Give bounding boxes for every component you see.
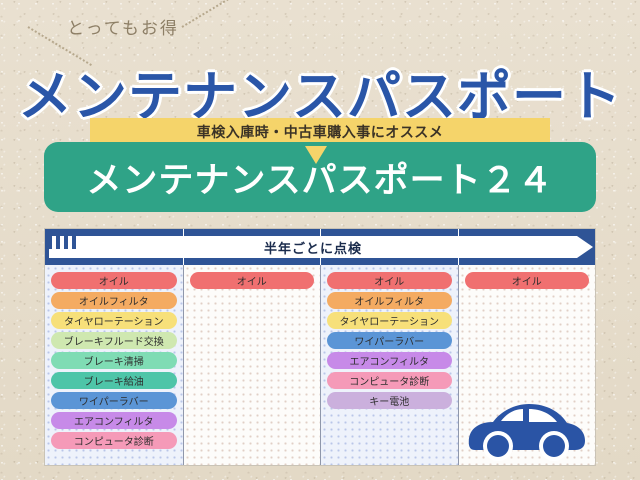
kicker-text: とってもお得: [58, 14, 188, 39]
service-pill: オイルフィルタ: [51, 292, 177, 309]
service-pill: コンピュータ診断: [51, 432, 177, 449]
service-pill: オイル: [51, 272, 177, 289]
maintenance-schedule-panel: 半年ごとに点検 オイルオイルフィルタタイヤローテーションブレーキフルード交換ブレ…: [44, 228, 596, 466]
service-pill: オイルフィルタ: [327, 292, 452, 309]
recommendation-banner-tail-icon: [305, 146, 327, 164]
service-column-3: オイルオイルフィルタタイヤローテーションワイパーラバーエアコンフィルタコンピュー…: [321, 265, 459, 466]
timeline-arrow-head-icon: [577, 236, 593, 258]
kicker-dash-right-icon: [181, 0, 245, 28]
service-column-1: オイルオイルフィルタタイヤローテーションブレーキフルード交換ブレーキ清掃ブレーキ…: [45, 265, 184, 466]
maintenance-passport-poster: とってもお得 メンテナンスパスポート 車検入庫時・中古車購入事にオススメ メンテ…: [0, 0, 640, 480]
timeline-label: 半年ごとに点検: [49, 236, 577, 258]
service-pill: ブレーキ清掃: [51, 352, 177, 369]
timeline-stripe: [48, 231, 52, 249]
timeline-stripe: [72, 231, 76, 249]
service-pill: ブレーキフルード交換: [51, 332, 177, 349]
timeline-stripe: [64, 231, 68, 249]
service-pill: ワイパーラバー: [51, 392, 177, 409]
service-pill: キー電池: [327, 392, 452, 409]
service-pill: ワイパーラバー: [327, 332, 452, 349]
timeline-start-marker-icon: [48, 231, 90, 249]
service-pill: エアコンフィルタ: [327, 352, 452, 369]
kicker-row: とってもお得: [0, 6, 640, 52]
service-pill: タイヤローテーション: [51, 312, 177, 329]
timeline-arrow: 半年ごとに点検: [49, 236, 593, 258]
service-column-2: オイル: [184, 265, 322, 466]
service-pill: オイル: [465, 272, 590, 289]
service-pill: エアコンフィルタ: [51, 412, 177, 429]
service-pill: タイヤローテーション: [327, 312, 452, 329]
service-pill: ブレーキ給油: [51, 372, 177, 389]
service-pill: オイル: [327, 272, 452, 289]
timeline-stripe: [56, 231, 60, 249]
service-pill: コンピュータ診断: [327, 372, 452, 389]
service-pill: オイル: [190, 272, 315, 289]
car-icon: [461, 389, 589, 463]
